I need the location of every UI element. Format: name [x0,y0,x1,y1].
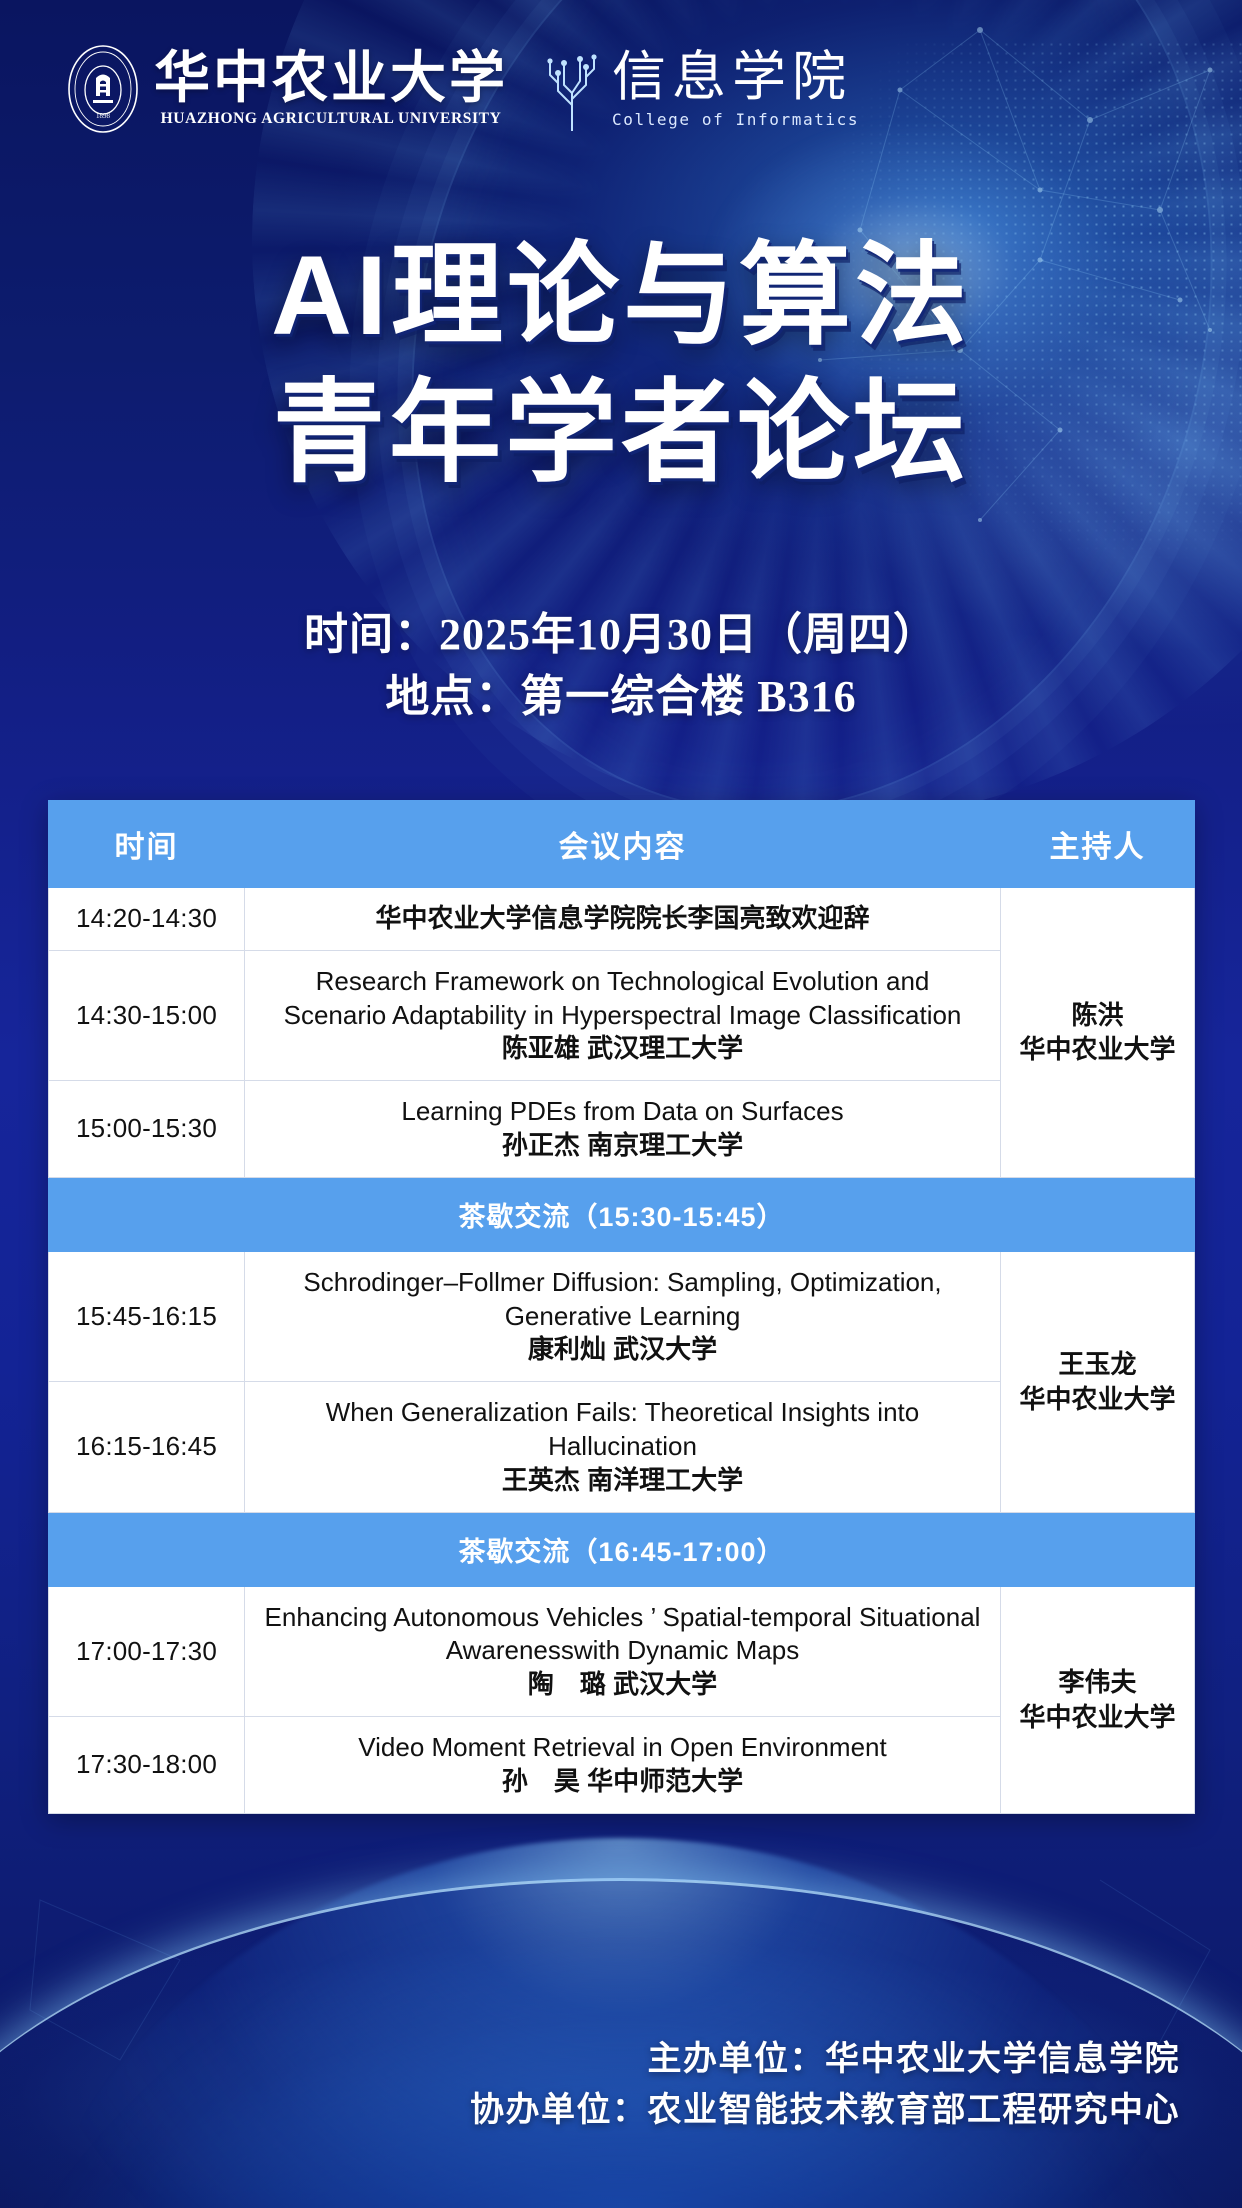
break-label: 茶歇交流（15:30-15:45） [49,1177,1195,1251]
topic-title-en: Learning PDEs from Data on Surfaces [261,1095,984,1129]
table-row: 17:00-17:30Enhancing Autonomous Vehicles… [49,1586,1195,1716]
footer: 主办单位：华中农业大学信息学院 协办单位：农业智能技术教育部工程研究中心 [0,2034,1242,2136]
host-name: 李伟夫 [1005,1665,1190,1700]
agenda-break-row: 茶歇交流（15:30-15:45） [49,1177,1195,1251]
topic-speaker: 陶 璐 武汉大学 [261,1668,984,1702]
poster-root: 1898 华中农业大学 HUAZHONG AGRICULTURAL UNIVER… [0,0,1242,2208]
college-name-en: College of Informatics [612,110,859,129]
topic-title-cn: 华中农业大学信息学院院长李国亮致欢迎辞 [261,902,984,936]
event-time: 时间：2025年10月30日（周四） [0,604,1242,666]
topic-title-en: When Generalization Fails: Theoretical I… [261,1396,984,1464]
break-label: 茶歇交流（16:45-17:00） [49,1512,1195,1586]
host-name: 陈洪 [1005,998,1190,1033]
cell-topic: Learning PDEs from Data on Surfaces孙正杰 南… [245,1081,1001,1178]
cell-topic: Schrodinger–Follmer Diffusion: Sampling,… [245,1251,1001,1381]
agenda-header-row: 时间 会议内容 主持人 [49,801,1195,888]
cell-host: 陈洪华中农业大学 [1001,888,1195,1178]
university-seal-icon: 1898 [66,44,140,134]
agenda-body: 14:20-14:30华中农业大学信息学院院长李国亮致欢迎辞陈洪华中农业大学14… [49,888,1195,1814]
topic-speaker: 陈亚雄 武汉理工大学 [261,1032,984,1066]
cell-time: 15:45-16:15 [49,1251,245,1381]
topic-title-en: Video Moment Retrieval in Open Environme… [261,1731,984,1765]
title-line-1: AI理论与算法 [0,228,1242,365]
cell-time: 14:30-15:00 [49,950,245,1080]
cell-time: 14:20-14:30 [49,888,245,951]
cell-topic: Research Framework on Technological Evol… [245,950,1001,1080]
table-row: 14:20-14:30华中农业大学信息学院院长李国亮致欢迎辞陈洪华中农业大学 [49,888,1195,951]
column-header-time: 时间 [49,801,245,888]
cell-time: 15:00-15:30 [49,1081,245,1178]
column-header-host: 主持人 [1001,801,1195,888]
cell-topic: Video Moment Retrieval in Open Environme… [245,1716,1001,1813]
cell-time: 17:00-17:30 [49,1586,245,1716]
topic-speaker: 孙 昊 华中师范大学 [261,1765,984,1799]
event-meta: 时间：2025年10月30日（周四） 地点：第一综合楼 B316 [0,604,1242,729]
svg-text:1898: 1898 [96,112,111,120]
logo-bar: 1898 华中农业大学 HUAZHONG AGRICULTURAL UNIVER… [66,44,859,134]
college-name-cn: 信息学院 [612,49,859,106]
circuit-tree-icon [542,47,602,131]
topic-speaker: 康利灿 武汉大学 [261,1333,984,1367]
agenda-table-wrapper: 时间 会议内容 主持人 14:20-14:30华中农业大学信息学院院长李国亮致欢… [48,800,1194,1814]
host-affiliation: 华中农业大学 [1005,1032,1190,1067]
cell-topic: 华中农业大学信息学院院长李国亮致欢迎辞 [245,888,1001,951]
column-header-topic: 会议内容 [245,801,1001,888]
host-name: 王玉龙 [1005,1347,1190,1382]
topic-speaker: 王英杰 南洋理工大学 [261,1464,984,1498]
cell-topic: Enhancing Autonomous Vehicles ’ Spatial-… [245,1586,1001,1716]
host-affiliation: 华中农业大学 [1005,1700,1190,1735]
table-row: 15:45-16:15Schrodinger–Follmer Diffusion… [49,1251,1195,1381]
university-name-cn: 华中农业大学 [154,50,508,109]
footer-co-organizer: 协办单位：农业智能技术教育部工程研究中心 [0,2085,1180,2136]
topic-title-en: Research Framework on Technological Evol… [261,965,984,1033]
university-name-en: HUAZHONG AGRICULTURAL UNIVERSITY [154,110,508,128]
cell-topic: When Generalization Fails: Theoretical I… [245,1382,1001,1512]
agenda-table: 时间 会议内容 主持人 14:20-14:30华中农业大学信息学院院长李国亮致欢… [48,800,1195,1814]
agenda-break-row: 茶歇交流（16:45-17:00） [49,1512,1195,1586]
host-affiliation: 华中农业大学 [1005,1382,1190,1417]
event-place: 地点：第一综合楼 B316 [0,666,1242,728]
title-line-2: 青年学者论坛 [0,365,1242,502]
topic-title-en: Enhancing Autonomous Vehicles ’ Spatial-… [261,1601,984,1669]
cell-time: 16:15-16:45 [49,1382,245,1512]
cell-time: 17:30-18:00 [49,1716,245,1813]
earth-glow-decoration [0,1838,1242,2208]
cell-host: 李伟夫华中农业大学 [1001,1586,1195,1813]
university-name-block: 华中农业大学 HUAZHONG AGRICULTURAL UNIVERSITY [154,50,508,129]
page-title: AI理论与算法 青年学者论坛 [0,228,1242,501]
college-name-block: 信息学院 College of Informatics [612,49,859,129]
topic-speaker: 孙正杰 南京理工大学 [261,1129,984,1163]
footer-organizer: 主办单位：华中农业大学信息学院 [0,2034,1180,2085]
cell-host: 王玉龙华中农业大学 [1001,1251,1195,1512]
topic-title-en: Schrodinger–Follmer Diffusion: Sampling,… [261,1266,984,1334]
